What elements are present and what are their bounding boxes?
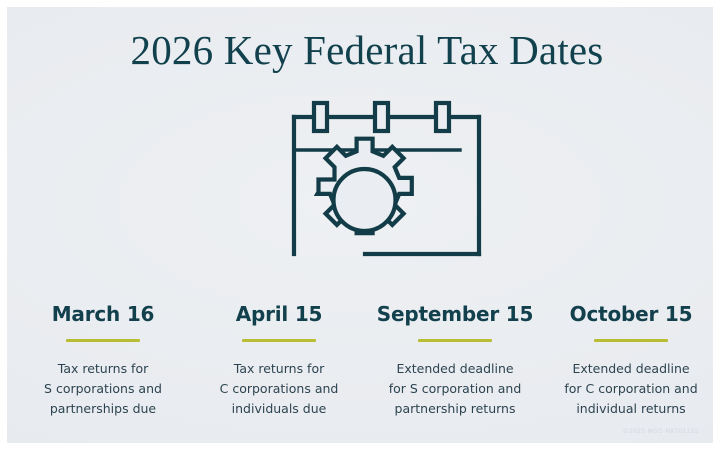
date-description: Tax returns for C corporations and indiv…	[195, 359, 363, 418]
date-column-march: March 16 Tax returns for S corporations …	[15, 303, 191, 418]
date-column-september: September 15 Extended deadline for S cor…	[367, 303, 543, 418]
gear-hub	[334, 169, 396, 231]
description-line: partnerships due	[19, 399, 187, 419]
description-line: C corporations and	[195, 379, 363, 399]
date-underline	[242, 339, 316, 342]
date-heading: October 15	[547, 303, 715, 326]
description-line: individuals due	[195, 399, 363, 419]
description-line: partnership returns	[371, 399, 539, 419]
binder-ring-2	[375, 103, 388, 131]
page-title: 2026 Key Federal Tax Dates	[7, 28, 720, 73]
description-line: for C corporation and	[547, 379, 715, 399]
description-line: Extended deadline	[547, 359, 715, 379]
copyright-credit: ©2025 MGO MKT01155	[623, 428, 699, 435]
date-heading: March 16	[19, 303, 187, 326]
calendar-gear-icon	[247, 95, 492, 285]
date-description: Extended deadline for C corporation and …	[547, 359, 715, 418]
dates-row: March 16 Tax returns for S corporations …	[15, 303, 719, 418]
description-line: Tax returns for	[195, 359, 363, 379]
binder-ring-1	[314, 103, 327, 131]
gear-shape	[317, 139, 411, 233]
date-underline	[66, 339, 140, 342]
date-description: Extended deadline for S corporation and …	[371, 359, 539, 418]
description-line: Extended deadline	[371, 359, 539, 379]
date-column-april: April 15 Tax returns for C corporations …	[191, 303, 367, 418]
description-line: individual returns	[547, 399, 715, 419]
date-underline	[418, 339, 492, 342]
date-description: Tax returns for S corporations and partn…	[19, 359, 187, 418]
calendar-gear-illustration	[247, 95, 492, 285]
binder-ring-3	[436, 103, 449, 131]
date-column-october: October 15 Extended deadline for C corpo…	[543, 303, 719, 418]
infographic-canvas: 2026 Key Federal Tax Dates	[0, 0, 720, 450]
description-line: Tax returns for	[19, 359, 187, 379]
description-line: S corporations and	[19, 379, 187, 399]
date-underline	[594, 339, 668, 342]
description-line: for S corporation and	[371, 379, 539, 399]
date-heading: April 15	[195, 303, 363, 326]
date-heading: September 15	[371, 303, 539, 326]
